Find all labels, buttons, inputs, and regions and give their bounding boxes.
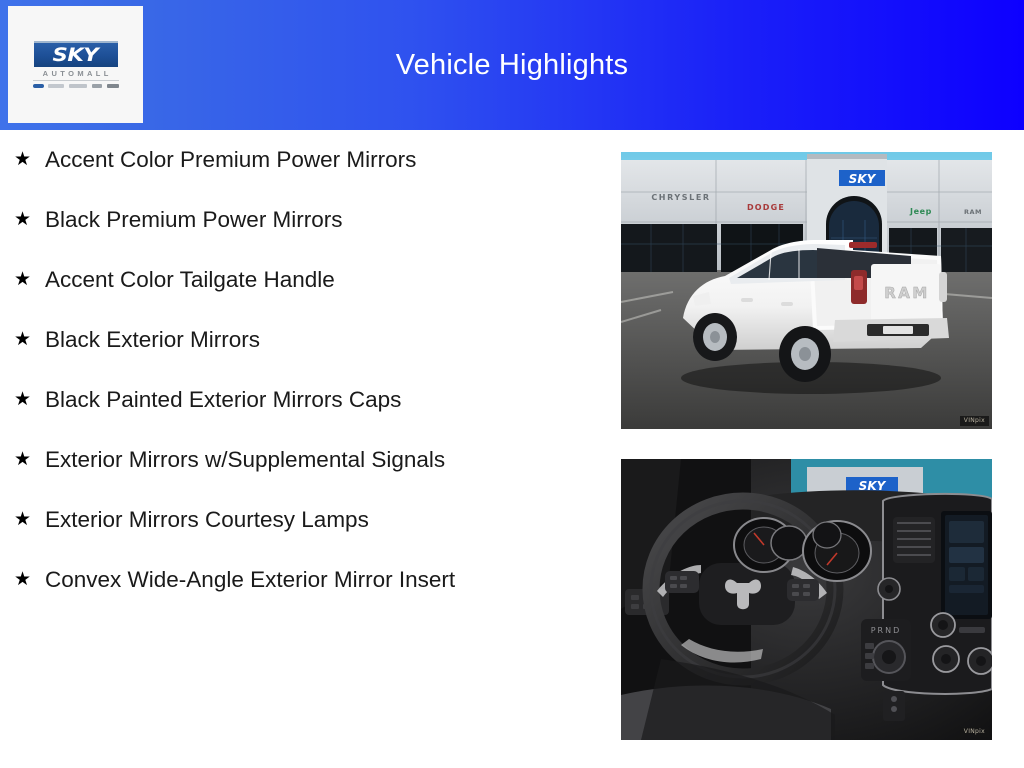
list-item: ★ Black Painted Exterior Mirrors Caps (0, 385, 600, 414)
feature-label: Black Exterior Mirrors (45, 325, 525, 354)
star-bullet-icon: ★ (14, 385, 45, 414)
svg-text:CHRYSLER: CHRYSLER (651, 193, 710, 202)
chrysler-logo-icon (48, 84, 64, 88)
feature-label: Exterior Mirrors w/Supplemental Signals (45, 445, 525, 474)
list-item: ★ Accent Color Premium Power Mirrors (0, 145, 600, 174)
svg-text:SKY: SKY (849, 172, 877, 186)
list-item: ★ Accent Color Tailgate Handle (0, 265, 600, 294)
list-item: ★ Exterior Mirrors Courtesy Lamps (0, 505, 600, 534)
vehicle-interior-photo[interactable]: SKY (621, 459, 992, 740)
exterior-photo-graphic: SKY CHRYSLER DODGE Jeep RAM (621, 152, 992, 429)
fiat-logo-icon (107, 84, 119, 88)
star-bullet-icon: ★ (14, 325, 45, 354)
feature-label: Black Painted Exterior Mirrors Caps (45, 385, 525, 414)
vehicle-highlights-list: ★ Accent Color Premium Power Mirrors ★ B… (0, 133, 600, 768)
interior-photo-graphic: SKY (621, 459, 992, 740)
list-item: ★ Black Exterior Mirrors (0, 325, 600, 354)
feature-label: Accent Color Tailgate Handle (45, 265, 525, 294)
star-bullet-icon: ★ (14, 145, 45, 174)
vehicle-exterior-photo[interactable]: SKY CHRYSLER DODGE Jeep RAM (621, 152, 992, 429)
list-item: ★ Exterior Mirrors w/Supplemental Signal… (0, 445, 600, 474)
star-bullet-icon: ★ (14, 565, 45, 594)
page-title: Vehicle Highlights (0, 0, 1024, 130)
dodge-logo-icon (69, 84, 87, 88)
svg-text:PRND: PRND (871, 626, 902, 635)
feature-label: Exterior Mirrors Courtesy Lamps (45, 505, 525, 534)
star-bullet-icon: ★ (14, 505, 45, 534)
svg-text:RAM: RAM (884, 284, 930, 302)
sky-logo-text: SKY (53, 46, 99, 65)
page-header: Vehicle Highlights (0, 0, 1024, 130)
list-item: ★ Convex Wide-Angle Exterior Mirror Inse… (0, 565, 600, 594)
ram-logo-icon (33, 84, 44, 88)
list-item: ★ Black Premium Power Mirrors (0, 205, 600, 234)
photo-watermark: VINpix (960, 727, 989, 737)
logo-divider (33, 80, 119, 81)
jeep-logo-icon (92, 84, 102, 88)
feature-label: Accent Color Premium Power Mirrors (45, 145, 525, 174)
star-bullet-icon: ★ (14, 205, 45, 234)
sky-logo-plate: SKY (34, 41, 118, 67)
feature-label: Black Premium Power Mirrors (45, 205, 525, 234)
feature-label: Convex Wide-Angle Exterior Mirror Insert (45, 565, 525, 594)
dealer-logo-inner: SKY AUTOMALL (30, 41, 122, 88)
star-bullet-icon: ★ (14, 265, 45, 294)
star-bullet-icon: ★ (14, 445, 45, 474)
svg-text:Jeep: Jeep (909, 207, 932, 216)
dealer-logo[interactable]: SKY AUTOMALL (8, 6, 143, 123)
svg-text:RAM: RAM (964, 208, 982, 216)
photo-watermark: VINpix (960, 416, 989, 426)
automall-label: AUTOMALL (39, 70, 112, 78)
oem-brand-marks (33, 84, 119, 88)
svg-text:DODGE: DODGE (747, 203, 785, 212)
